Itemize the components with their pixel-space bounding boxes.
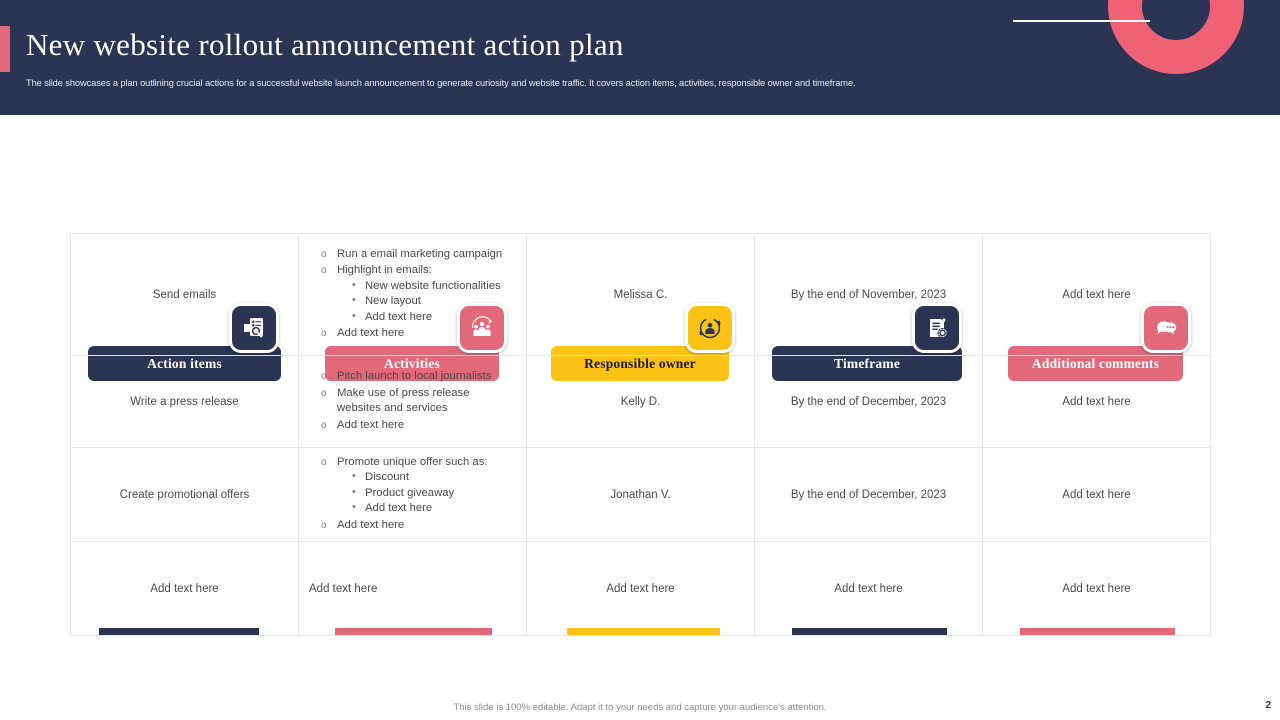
cell-action-item: Add text here: [71, 542, 299, 636]
activity-text: Promote unique offer such as:: [337, 456, 488, 468]
page-number: 2: [1265, 700, 1271, 711]
table-row: Add text here Add text here Add text her…: [71, 542, 1211, 636]
cell-responsible-owner: Add text here: [527, 542, 755, 636]
accent-bar-activities: [335, 628, 492, 635]
activities-list: Pitch launch to local journalists Make u…: [309, 369, 516, 433]
activities-list: Promote unique offer such as: Discount P…: [309, 455, 516, 534]
column-accent-bars: [70, 628, 1210, 636]
cell-action-item: Create promotional offers: [71, 448, 299, 542]
list-item: Discount: [351, 470, 516, 486]
header-accent-bar: [0, 26, 10, 72]
cell-activities: Promote unique offer such as: Discount P…: [299, 448, 527, 542]
person-cycle-icon: [685, 303, 735, 353]
activity-text: Run a email marketing campaign: [337, 248, 502, 260]
document-search-icon: [229, 303, 279, 353]
list-item: Add text here: [317, 518, 516, 534]
cell-timeframe: By the end of December, 2023: [755, 448, 983, 542]
list-item: Product giveaway: [351, 486, 516, 502]
list-item: Run a email marketing campaign: [317, 247, 516, 263]
team-celebration-icon: [457, 303, 507, 353]
list-item: Promote unique offer such as: Discount P…: [317, 455, 516, 517]
cell-timeframe: Add text here: [755, 542, 983, 636]
accent-bar-action-items: [99, 628, 259, 635]
accent-bar-additional-comments: [1020, 628, 1175, 635]
accent-bar-timeframe: [792, 628, 947, 635]
footer-note: This slide is 100% editable. Adapt it to…: [0, 702, 1280, 713]
activity-text: Highlight in emails:: [337, 264, 432, 276]
slide-header: New website rollout announcement action …: [0, 0, 1280, 115]
page-subtitle: The slide showcases a plan outlining cru…: [26, 78, 1126, 88]
activity-sublist: Discount Product giveaway Add text here: [337, 470, 516, 517]
cell-additional-comments: Add text here: [983, 542, 1211, 636]
list-item: Make use of press release websites and s…: [317, 386, 516, 417]
activity-text: Add text here: [337, 327, 404, 339]
activity-text: Add text here: [337, 519, 404, 531]
cell-action-item: Write a press release: [71, 356, 299, 448]
list-item: Pitch launch to local journalists: [317, 369, 516, 385]
cell-responsible-owner: Kelly D.: [527, 356, 755, 448]
cell-additional-comments: Add text here: [983, 448, 1211, 542]
cell-activities: Pitch launch to local journalists Make u…: [299, 356, 527, 448]
column-headers: Action items Activities: [70, 148, 1210, 234]
action-plan-table: Send emails Run a email marketing campai…: [70, 233, 1211, 636]
table-row: Create promotional offers Promote unique…: [71, 448, 1211, 542]
cell-timeframe: By the end of December, 2023: [755, 356, 983, 448]
document-gear-icon: [912, 303, 962, 353]
cell-activities: Add text here: [299, 542, 527, 636]
page-title: New website rollout announcement action …: [26, 27, 624, 63]
list-item: Add text here: [351, 501, 516, 517]
slide: New website rollout announcement action …: [0, 0, 1280, 720]
header-rule-decoration: [1013, 20, 1150, 22]
cell-responsible-owner: Jonathan V.: [527, 448, 755, 542]
chat-bubbles-icon: [1141, 303, 1191, 353]
list-item: Add text here: [317, 418, 516, 434]
cell-additional-comments: Add text here: [983, 356, 1211, 448]
accent-bar-responsible-owner: [567, 628, 720, 635]
donut-decoration-icon: [1108, 0, 1244, 74]
table-row: Write a press release Pitch launch to lo…: [71, 356, 1211, 448]
list-item: New website functionalities: [351, 279, 516, 295]
